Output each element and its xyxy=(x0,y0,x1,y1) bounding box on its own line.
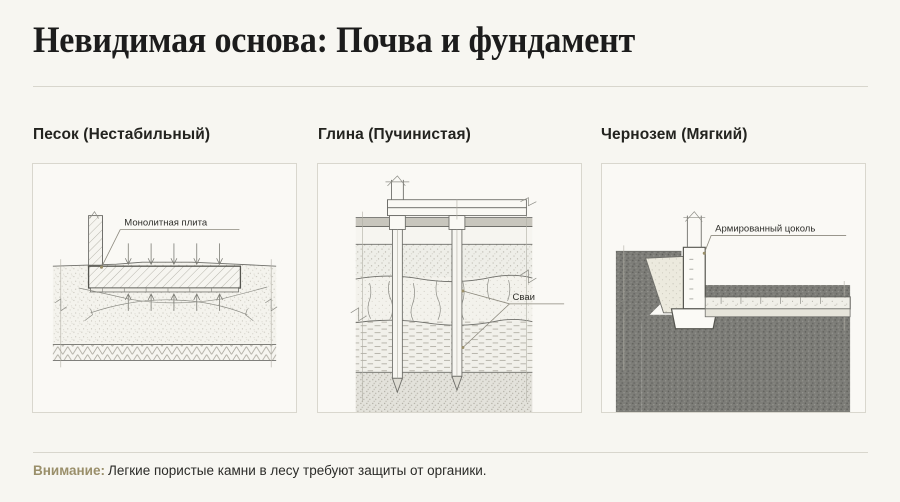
wall-column xyxy=(89,212,103,267)
load-arrows-down xyxy=(125,243,222,264)
footer-text: Легкие пористые камни в лесу требуют защ… xyxy=(108,463,487,478)
slide-root: Невидимая основа: Почва и фундамент Песо… xyxy=(0,0,900,502)
callout-text-slab: Монолитная плита xyxy=(124,218,208,229)
column-header-sand: Песок (Нестабильный) xyxy=(33,126,210,144)
grade-beam xyxy=(387,198,536,216)
diagram-panel-chernozem: Армированный цоколь xyxy=(601,163,866,413)
floor-slab xyxy=(705,297,850,317)
footer-note: Внимание:Легкие пористые камни в лесу тр… xyxy=(33,463,487,478)
callout-monolithic-slab: Монолитная плита xyxy=(100,218,240,269)
diagram-panel-clay: Сваи xyxy=(317,163,582,413)
callout-plinth: Армированный цоколь xyxy=(703,223,846,254)
column-header-clay: Глина (Пучинистая) xyxy=(318,126,471,144)
callout-text-piles: Сваи xyxy=(513,292,535,303)
title-divider xyxy=(33,86,868,87)
monolithic-slab xyxy=(89,266,241,292)
clay-soil-strata xyxy=(356,218,533,412)
footer-divider xyxy=(33,452,868,453)
diagram-panel-sand: Монолитная плита xyxy=(32,163,297,413)
column-stubs xyxy=(385,176,409,200)
footer-label: Внимание: xyxy=(33,463,105,478)
column-header-chernozem: Чернозем (Мягкий) xyxy=(601,126,748,144)
page-title: Невидимая основа: Почва и фундамент xyxy=(33,18,797,64)
bedrock-layer xyxy=(53,345,276,361)
callout-text-plinth: Армированный цоколь xyxy=(715,223,815,234)
